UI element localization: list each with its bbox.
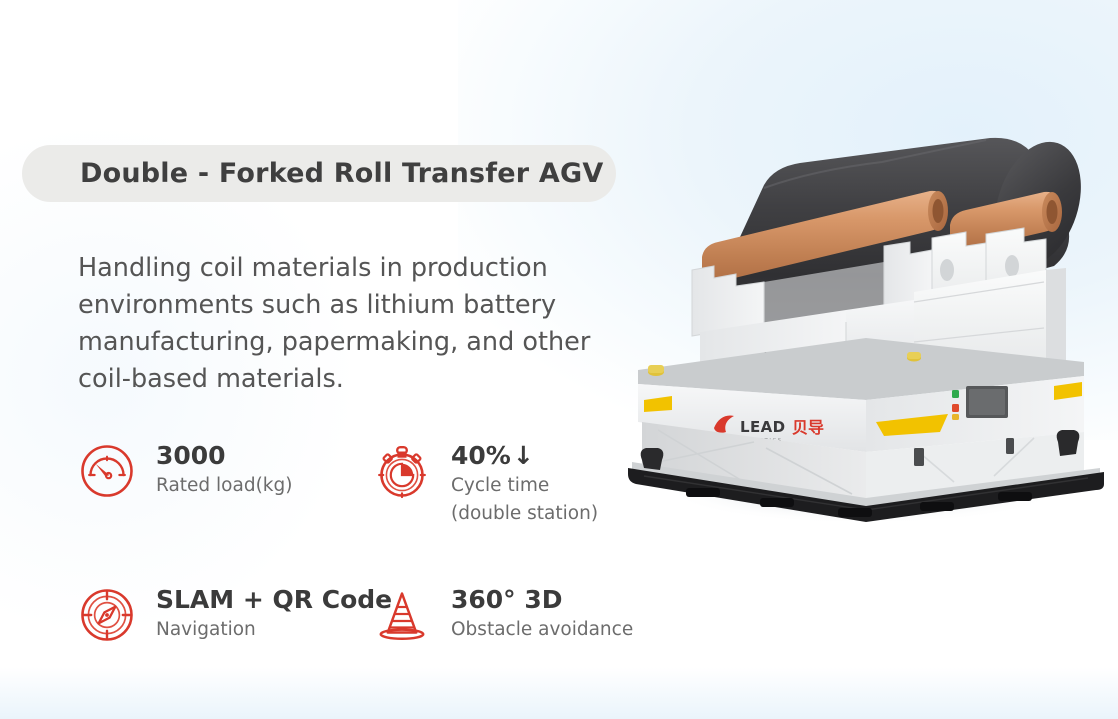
traffic-cone-icon (373, 586, 431, 644)
spec-value-number: SLAM + QR Code (156, 586, 392, 614)
spec-item-obstacle-avoidance: 360° 3D Obstacle avoidance (373, 584, 658, 644)
spec-label-line-1: Navigation (156, 617, 392, 642)
svg-text:贝导: 贝导 (792, 418, 824, 437)
spec-value-number: 360° 3D (451, 586, 563, 614)
spec-row-1: 3000 Rated load(kg) (78, 440, 658, 526)
product-image-agv: LEAD 贝导 LOGISTICS (614, 70, 1118, 540)
spec-item-navigation: SLAM + QR Code Navigation (78, 584, 373, 644)
down-arrow-icon: ↓ (513, 442, 534, 470)
spec-text-cycle-time: 40% ↓ Cycle time (double station) (451, 440, 598, 526)
spec-row-2: SLAM + QR Code Navigation (78, 584, 658, 644)
spec-value-number: 40% (451, 442, 511, 470)
spec-item-rated-load: 3000 Rated load(kg) (78, 440, 373, 526)
stopwatch-icon (373, 442, 431, 500)
spec-value-number: 3000 (156, 442, 226, 470)
spec-label-line-1: Cycle time (451, 473, 598, 498)
spec-list: 3000 Rated load(kg) (78, 440, 658, 644)
svg-text:LEAD: LEAD (740, 418, 785, 436)
spec-label-line-1: Rated load(kg) (156, 473, 292, 498)
spec-value: 3000 (156, 442, 292, 470)
spec-label-line-1: Obstacle avoidance (451, 617, 633, 642)
spec-value: SLAM + QR Code (156, 586, 392, 614)
spec-value: 360° 3D (451, 586, 633, 614)
slide-canvas: Double - Forked Roll Transfer AGV Handli… (0, 0, 1118, 719)
description-text: Handling coil materials in production en… (78, 250, 644, 398)
spec-text-navigation: SLAM + QR Code Navigation (156, 584, 392, 642)
spec-label-line-2: (double station) (451, 501, 598, 526)
page-title: Double - Forked Roll Transfer AGV (80, 158, 603, 189)
spec-text-rated-load: 3000 Rated load(kg) (156, 440, 292, 498)
compass-icon (78, 586, 136, 644)
spec-value: 40% ↓ (451, 442, 598, 470)
title-banner: Double - Forked Roll Transfer AGV (22, 145, 616, 202)
spec-text-obstacle-avoidance: 360° 3D Obstacle avoidance (451, 584, 633, 642)
background-wash-bottom (0, 667, 1118, 719)
gauge-icon (78, 442, 136, 500)
